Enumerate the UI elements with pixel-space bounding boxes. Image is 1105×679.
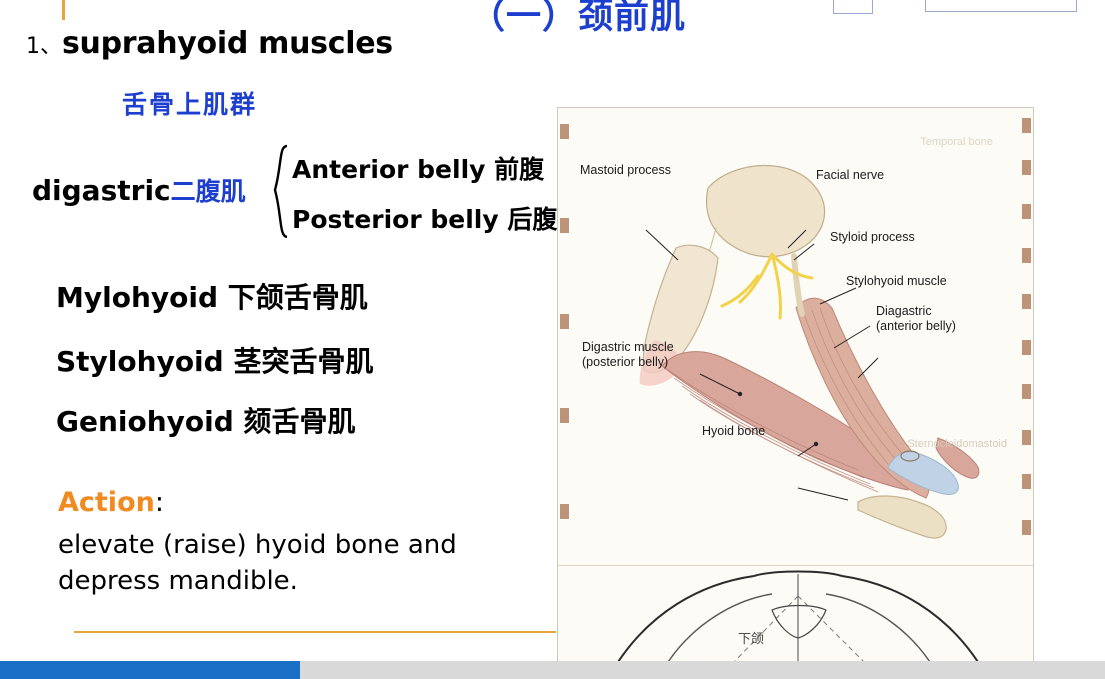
label-digastric-posterior-belly: (posterior belly): [582, 355, 668, 369]
suprahyoid-heading-chinese: 舌骨上肌群: [122, 85, 257, 121]
ghost-label-temporal-bone: Temporal bone: [920, 136, 993, 148]
label-hyoid-bone: Hyoid bone: [702, 424, 765, 438]
lower-illustration: [558, 566, 1033, 662]
page-edge-mark: [1022, 474, 1031, 489]
label-mastoid-process: Mastoid process: [580, 163, 671, 177]
suprahyoid-heading-number: 1、: [26, 34, 62, 59]
page-title: （一）颈前肌: [470, 0, 686, 39]
suprahyoid-heading-text: suprahyoid muscles: [62, 26, 393, 61]
top-left-tick-decoration: [62, 0, 65, 20]
bottom-status-bar: [0, 661, 1105, 679]
muscle-item-mylohyoid: Mylohyoid 下颌舌骨肌: [56, 276, 368, 316]
digastric-label-chinese: 二腹肌: [171, 177, 246, 206]
page-edge-mark: [1022, 118, 1031, 133]
digastric-label-english: digastric: [32, 174, 171, 207]
page-edge-mark: [1022, 204, 1031, 219]
page-edge-mark: [560, 218, 569, 233]
header-right-small-box-decoration: [833, 0, 873, 14]
action-description-line2: depress mandible.: [58, 563, 457, 599]
page-edge-mark: [560, 408, 569, 423]
digastric-label: digastric二腹肌: [32, 172, 246, 208]
action-label-text: Action: [58, 487, 155, 518]
posterior-belly-label: Posterior belly 后腹: [292, 200, 557, 236]
label-styloid-process: Styloid process: [830, 230, 915, 244]
action-label: Action:: [58, 487, 164, 518]
page-edge-mark: [1022, 294, 1031, 309]
ghost-label-sternocleidomastoid: Sternocleidomastoid: [907, 438, 1007, 450]
curly-brace-icon: [271, 144, 291, 240]
muscle-item-stylohyoid: Stylohyoid 茎突舌骨肌: [56, 340, 373, 380]
page-edge-mark: [560, 314, 569, 329]
page-edge-mark: [1022, 520, 1031, 535]
bottom-progress-segment: [0, 661, 300, 679]
label-diagastric-anterior-belly: (anterior belly): [876, 319, 956, 333]
action-label-colon: :: [155, 487, 164, 518]
bottom-horizontal-rule: [74, 631, 556, 633]
page-edge-mark: [1022, 430, 1031, 445]
label-digastric-muscle: Digastric muscle: [582, 340, 674, 354]
label-stylohyoid-muscle: Stylohyoid muscle: [846, 274, 947, 288]
anatomy-figure-lower-image: 下颌: [558, 566, 1033, 662]
anatomy-figure-image: Mastoid process Facial nerve Styloid pro…: [558, 108, 1033, 563]
action-description: elevate (raise) hyoid bone and depress m…: [58, 527, 457, 599]
page-edge-mark: [1022, 340, 1031, 355]
page-edge-mark: [560, 504, 569, 519]
header-right-box-decoration: [925, 0, 1077, 12]
label-diagastric: Diagastric: [876, 304, 932, 318]
suprahyoid-heading: 1、suprahyoid muscles: [26, 26, 393, 61]
page-edge-mark: [1022, 248, 1031, 263]
action-description-line1: elevate (raise) hyoid bone and: [58, 527, 457, 563]
lower-figure-text: 下颌: [738, 628, 764, 647]
page-edge-mark: [1022, 384, 1031, 399]
label-facial-nerve: Facial nerve: [816, 168, 884, 182]
slide: （一）颈前肌 1、suprahyoid muscles 舌骨上肌群 digast…: [0, 0, 1105, 679]
page-edge-mark: [560, 124, 569, 139]
anatomy-figure-panel: Mastoid process Facial nerve Styloid pro…: [557, 107, 1034, 664]
muscle-item-geniohyoid: Geniohyoid 颏舌骨肌: [56, 400, 356, 440]
anterior-belly-label: Anterior belly 前腹: [292, 150, 544, 186]
page-edge-mark: [1022, 160, 1031, 175]
